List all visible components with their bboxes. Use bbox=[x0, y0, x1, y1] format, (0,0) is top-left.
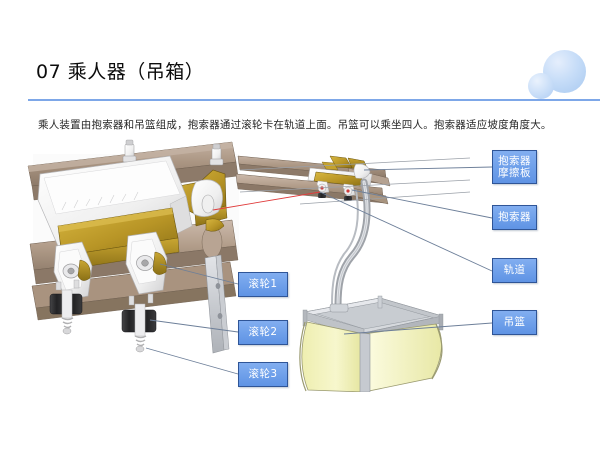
slide-description: 乘人装置由抱索器和吊篮组成，抱索器通过滚轮卡在轨道上面。吊篮可以乘坐四人。抱索器… bbox=[38, 117, 552, 132]
decorative-circle-small-icon bbox=[528, 73, 554, 99]
callout-friction-plate-line2: 摩擦板 bbox=[498, 167, 531, 180]
callout-friction-plate-line1: 抱索器 bbox=[498, 155, 531, 168]
callout-cabin[interactable]: 吊篮 bbox=[492, 310, 537, 335]
callout-gripper[interactable]: 抱索器 bbox=[492, 205, 537, 230]
callout-roller-1[interactable]: 滚轮1 bbox=[238, 272, 288, 297]
callout-track-label: 轨道 bbox=[504, 264, 526, 277]
callout-roller-3[interactable]: 滚轮3 bbox=[238, 362, 288, 387]
callout-roller-3-label: 滚轮3 bbox=[249, 368, 278, 381]
page-title: 07 乘人器（吊箱） bbox=[36, 57, 204, 84]
slide-canvas: 07 乘人器（吊箱） 乘人装置由抱索器和吊篮组成，抱索器通过滚轮卡在轨道上面。吊… bbox=[0, 0, 600, 450]
callout-cabin-label: 吊篮 bbox=[504, 316, 526, 329]
callout-friction-plate[interactable]: 抱索器 摩擦板 bbox=[492, 150, 537, 184]
callout-gripper-label: 抱索器 bbox=[498, 211, 531, 224]
callout-roller-2[interactable]: 滚轮2 bbox=[238, 320, 288, 345]
plate-bolt-left bbox=[123, 140, 136, 162]
callout-roller-1-label: 滚轮1 bbox=[249, 278, 278, 291]
roller-assembly-1 bbox=[50, 242, 92, 334]
gripper-detail-assembly bbox=[28, 140, 239, 353]
title-divider bbox=[28, 99, 600, 101]
callout-track[interactable]: 轨道 bbox=[492, 258, 537, 283]
callout-roller-2-label: 滚轮2 bbox=[249, 326, 278, 339]
